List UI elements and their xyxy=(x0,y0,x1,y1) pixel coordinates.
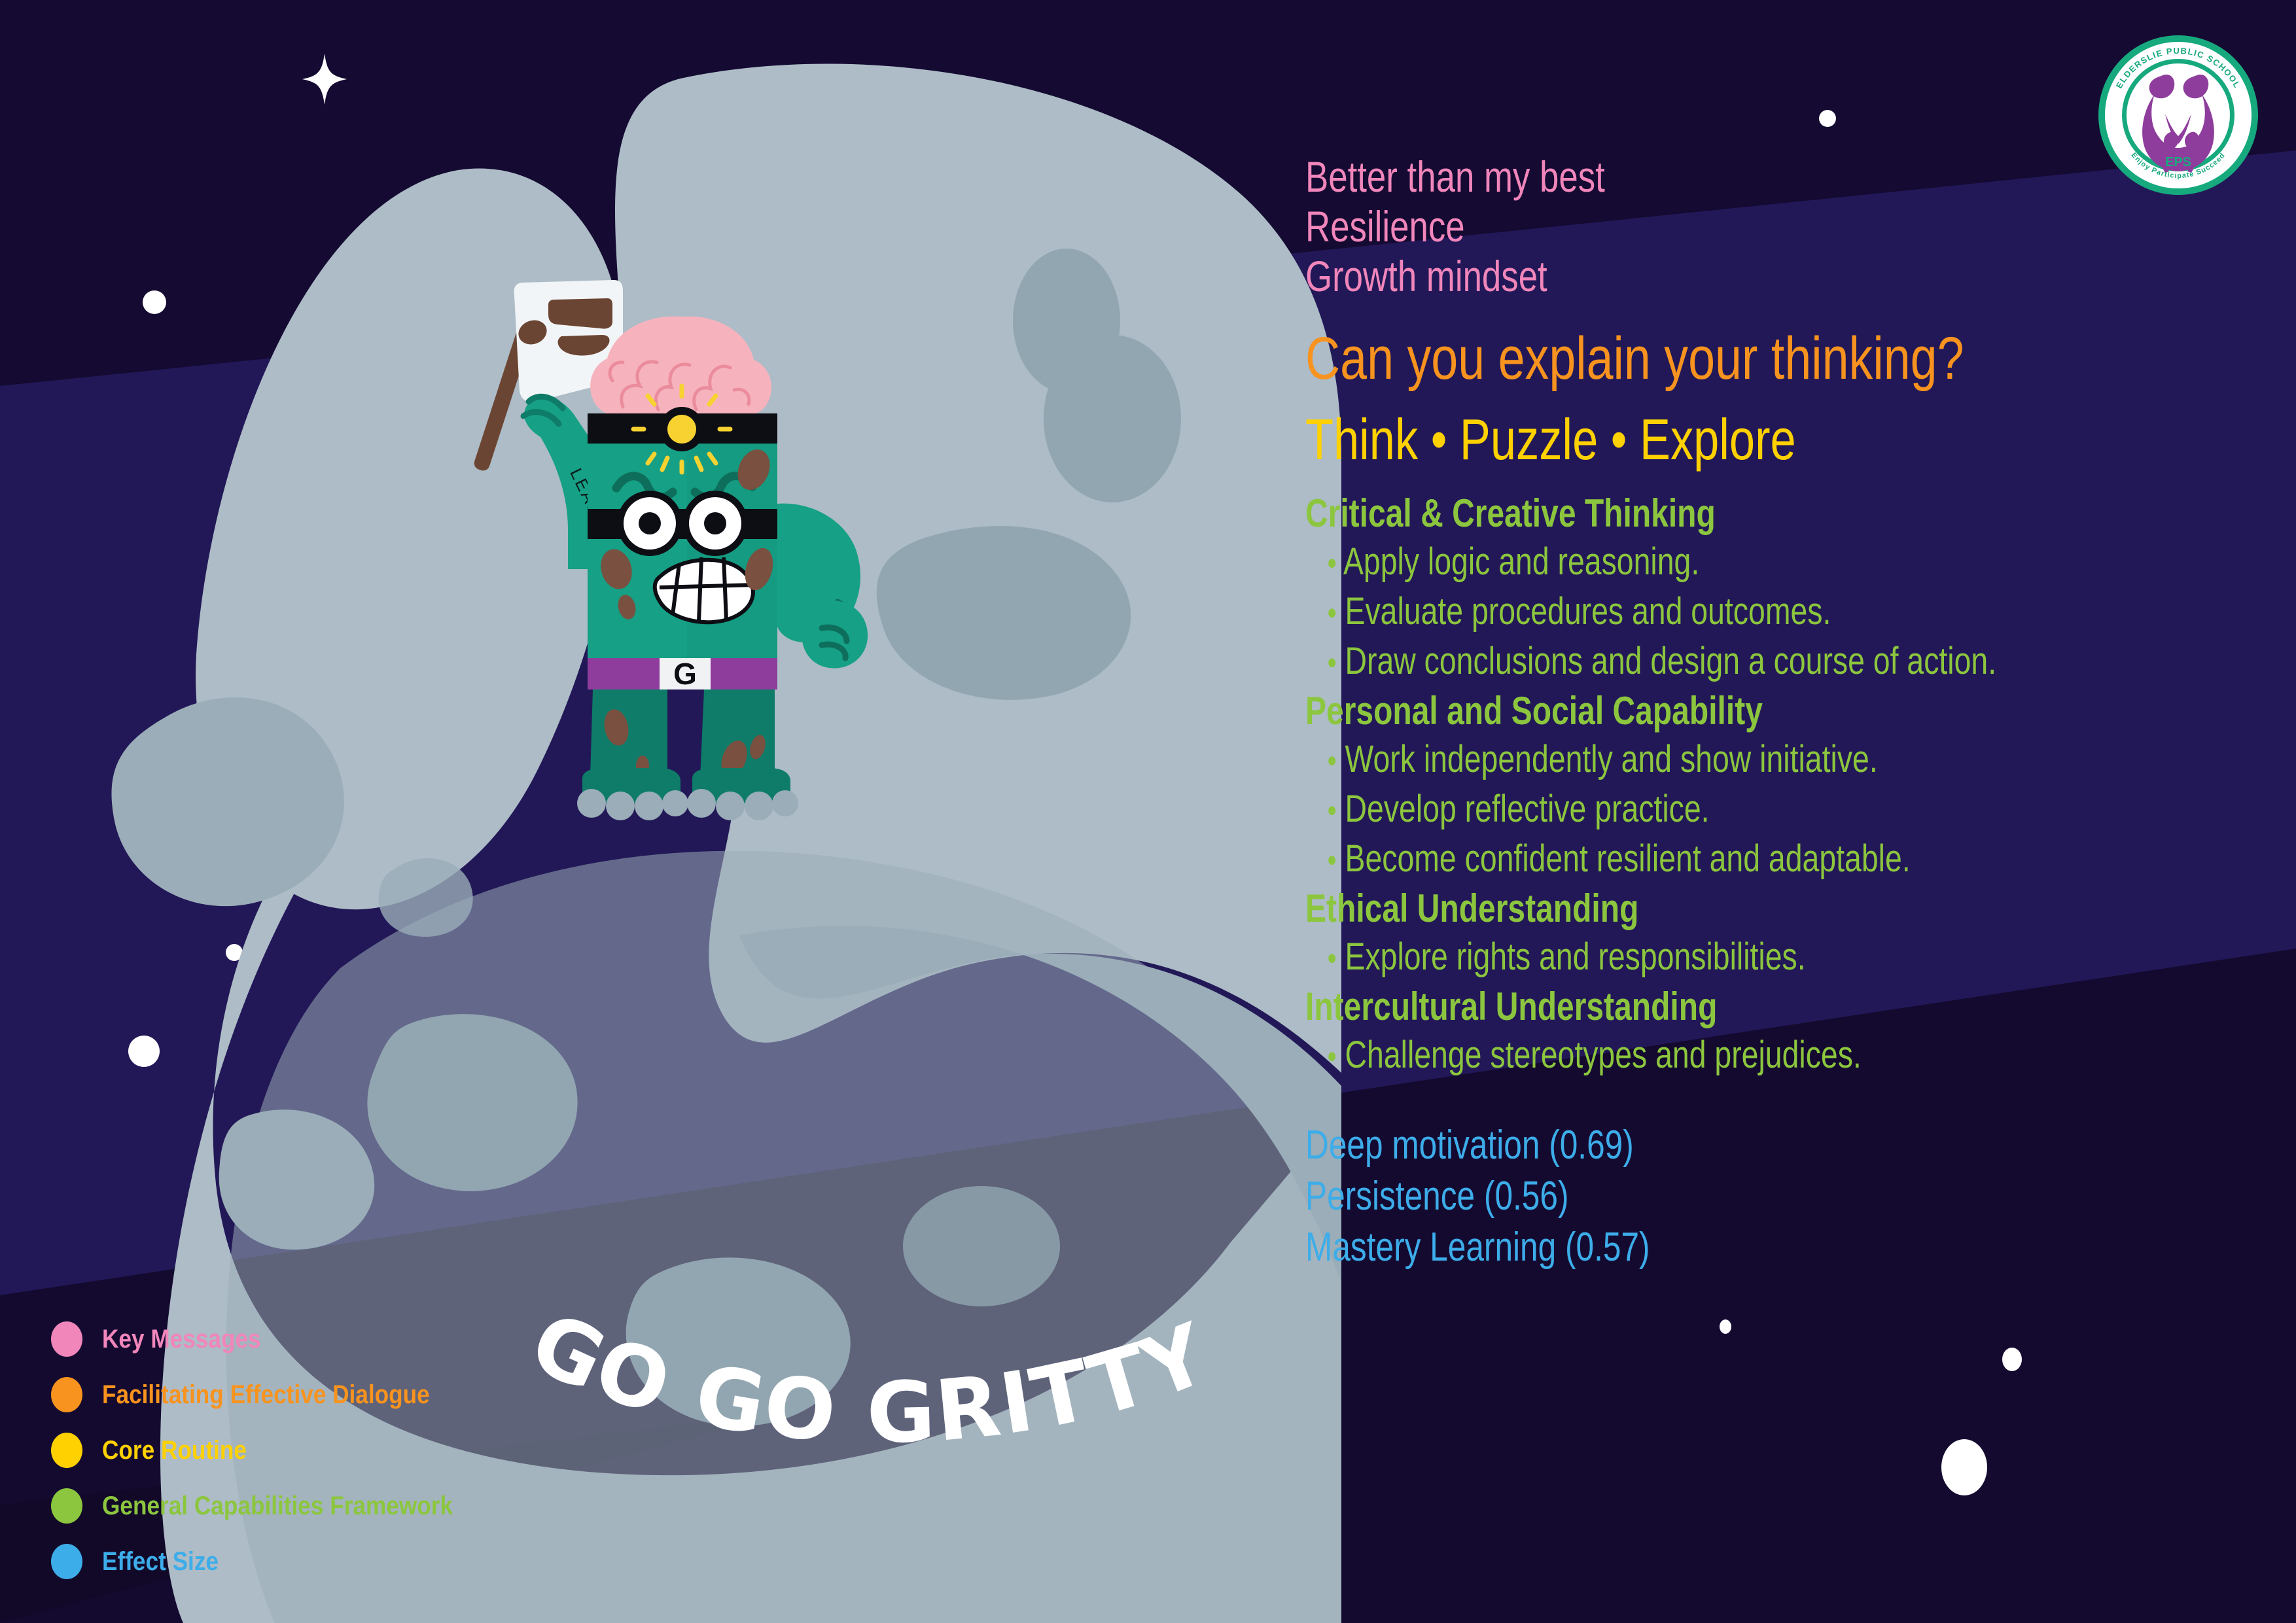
belt-buckle-letter: G xyxy=(673,657,697,691)
go-go-gritty-title: GO GO GRITTY xyxy=(497,1263,1348,1485)
gc-bullet: • Explore rights and responsibilities. xyxy=(1305,933,2049,983)
gc-bullet: • Apply logic and reasoning. xyxy=(1305,538,2049,587)
legend-label: Key Messages xyxy=(102,1325,261,1353)
legend-item-general-capabilities: General Capabilities Framework xyxy=(51,1482,501,1530)
gc-bullet-text: Challenge stereotypes and prejudices. xyxy=(1345,1034,1862,1076)
gc-heading: Ethical Understanding xyxy=(1305,884,2049,933)
star-dot xyxy=(1819,110,1836,127)
legend-swatch-icon xyxy=(51,1321,82,1357)
key-messages-block: Better than my best Resilience Growth mi… xyxy=(1305,152,2234,301)
legend-item-key-messages: Key Messages xyxy=(51,1315,501,1363)
star-dot xyxy=(1941,1439,1987,1495)
gc-bullet-text: Evaluate procedures and outcomes. xyxy=(1345,590,1831,633)
facilitating-dialogue-question: Can you explain your thinking? xyxy=(1305,324,2049,393)
legend-item-effect-size: Effect Size xyxy=(51,1537,501,1586)
poster-title-text: GO GO GRITTY xyxy=(516,1293,1223,1462)
gc-heading: Intercultural Understanding xyxy=(1305,983,2049,1031)
key-message-line: Better than my best xyxy=(1305,152,2049,201)
legend-label: Effect Size xyxy=(102,1547,219,1576)
legend-swatch-icon xyxy=(51,1544,82,1579)
legend-label: General Capabilities Framework xyxy=(102,1492,453,1520)
gc-heading: Personal and Social Capability xyxy=(1305,687,2049,735)
gc-bullet: • Draw conclusions and design a course o… xyxy=(1305,637,2049,687)
core-routine-text: Think • Puzzle • Explore xyxy=(1305,407,2049,472)
gc-bullet-text: Become confident resilient and adaptable… xyxy=(1345,837,1911,880)
gc-bullet: • Evaluate procedures and outcomes. xyxy=(1305,587,2049,637)
star-dot xyxy=(1720,1319,1731,1334)
general-capabilities-block: Critical & Creative Thinking • Apply log… xyxy=(1305,489,2049,1081)
gc-bullet: • Develop reflective practice. xyxy=(1305,785,2049,835)
legend-item-facilitating-dialogue: Facilitating Effective Dialogue xyxy=(51,1370,501,1419)
gc-bullet-text: Explore rights and responsibilities. xyxy=(1345,935,1806,978)
content-column: Better than my best Resilience Growth mi… xyxy=(1305,152,2234,1273)
effect-size-line: Mastery Learning (0.57) xyxy=(1305,1222,2049,1273)
legend: Key Messages Facilitating Effective Dial… xyxy=(51,1315,501,1593)
gc-bullet-text: Develop reflective practice. xyxy=(1345,788,1710,830)
poster-canvas: LEARNING xyxy=(0,0,2296,1623)
effect-size-line: Persistence (0.56) xyxy=(1305,1171,2049,1222)
gc-bullet-text: Work independently and show initiative. xyxy=(1345,738,1878,780)
legend-swatch-icon xyxy=(51,1377,82,1412)
gc-bullet-text: Draw conclusions and design a course of … xyxy=(1345,640,1997,682)
key-message-line: Resilience xyxy=(1305,201,2049,251)
gc-bullet: • Challenge stereotypes and prejudices. xyxy=(1305,1031,2049,1081)
key-message-line: Growth mindset xyxy=(1305,251,2049,301)
effect-size-line: Deep motivation (0.69) xyxy=(1305,1120,2049,1171)
legend-item-core-routine: Core Routine xyxy=(51,1426,501,1475)
effect-size-block: Deep motivation (0.69) Persistence (0.56… xyxy=(1305,1120,2049,1273)
legend-swatch-icon xyxy=(51,1488,82,1524)
legend-label: Core Routine xyxy=(102,1436,247,1465)
legend-label: Facilitating Effective Dialogue xyxy=(102,1380,430,1409)
gc-bullet-text: Apply logic and reasoning. xyxy=(1343,540,1699,583)
legend-swatch-icon xyxy=(51,1433,82,1468)
star-dot xyxy=(2002,1348,2022,1371)
gc-heading: Critical & Creative Thinking xyxy=(1305,489,2049,538)
gc-bullet: • Work independently and show initiative… xyxy=(1305,735,2049,785)
gritty-mascot: LEARNING xyxy=(451,262,923,850)
gc-bullet: • Become confident resilient and adaptab… xyxy=(1305,835,2049,884)
